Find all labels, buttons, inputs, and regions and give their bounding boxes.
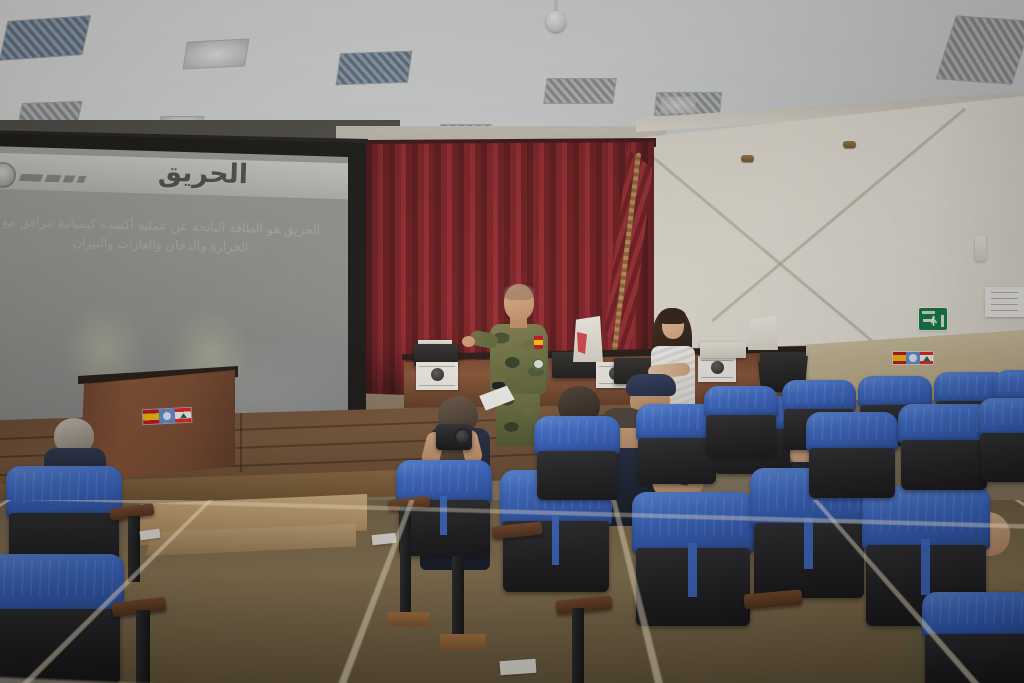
ceiling-vent [0,15,91,61]
slide-body-text: الحريق هو الطاقة الناتجة عن عملية أكسدة … [2,212,321,259]
united-nations-emblem-icon [159,409,176,424]
slide-title: الحريق [108,155,299,192]
united-nations-emblem-icon [906,352,919,364]
podium-flag-strip [143,408,192,424]
auditorium-seat [534,416,620,500]
seat-leg [572,608,584,683]
emergency-exit-sign [919,308,947,330]
lebanon-flag-icon [175,408,192,423]
display-card [698,356,736,382]
lebanon-flag-icon [920,352,933,364]
seat-leg [136,610,150,683]
navy-beret [626,374,676,396]
auditorium-seat [898,404,990,490]
paper-bag [748,316,778,350]
seat-leg [452,556,464,640]
wall-trim-diagonal [711,108,966,322]
spain-flag-shoulder-patch [534,336,543,349]
seat-floor-base [440,634,486,650]
camera-lens-icon [454,428,471,445]
ceiling-light-diffuser [660,96,696,114]
seat-leg [128,516,140,582]
auditorium-photo: الحريق الحريق هو الطاقة الناتجة عن عملية… [0,0,1024,683]
auditorium-seat [704,386,778,456]
wall-light-switch [975,236,986,261]
paper-bag [573,316,603,362]
wall-hook [843,141,856,148]
spain-flag-icon [893,352,906,364]
auditorium-seat [806,412,898,498]
ceiling-light-diffuser [182,38,249,69]
smoke-detector [546,11,566,32]
auditorium-seat [0,554,124,683]
ceiling-vent [543,78,617,104]
display-card [416,362,458,390]
equipment-box [700,342,746,358]
auditorium-seat [632,492,754,626]
ceiling-vent [936,15,1024,84]
handheld-camera [436,424,472,450]
table-flag-strip [893,352,933,364]
auditorium-seat [978,398,1024,482]
wall-notice-paper [985,287,1024,317]
seat-floor-base [388,612,430,626]
ceiling-vent [336,51,413,85]
unit-insignia-patch [532,358,545,370]
auditorium-seat [922,592,1024,683]
hand [462,336,475,347]
paper-on-floor [500,659,537,675]
slide-stripe-bars [20,169,90,189]
spain-flag-icon [143,409,160,424]
seat-leg [400,506,411,618]
wall-hook [741,155,754,162]
